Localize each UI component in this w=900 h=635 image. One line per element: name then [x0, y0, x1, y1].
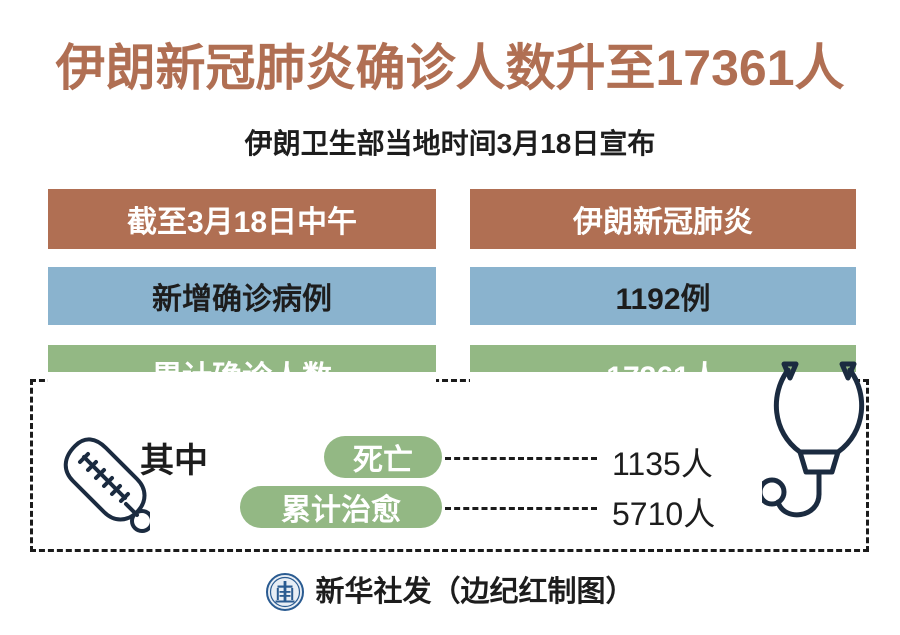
xinhua-logo: [265, 572, 305, 612]
pill-recovered: 累计治愈: [240, 486, 442, 528]
table-row-header-label: 截至3月18日中午: [48, 189, 436, 249]
page-title: 伊朗新冠肺炎确诊人数升至17361人: [0, 38, 900, 98]
connector-recovered: [445, 507, 597, 510]
pill-deaths: 死亡: [324, 436, 442, 478]
footer: 新华社发（边纪红制图）: [0, 572, 900, 612]
value-recovered: 5710人: [612, 489, 715, 535]
table-row-header-value: 伊朗新冠肺炎: [470, 189, 856, 249]
stethoscope-icon: [762, 352, 874, 534]
table-row-new-cases-value: 1192例: [470, 267, 856, 325]
infographic-canvas: 伊朗新冠肺炎确诊人数升至17361人 伊朗卫生部当地时间3月18日宣布 截至3月…: [0, 0, 900, 635]
thermometer-icon: [58, 424, 150, 536]
footer-credit: 新华社发（边纪红制图）: [315, 572, 634, 612]
connector-deaths: [445, 457, 597, 460]
notch-left: [48, 372, 436, 404]
table-row-new-cases-label: 新增确诊病例: [48, 267, 436, 325]
value-deaths: 1135人: [612, 439, 713, 485]
page-subtitle: 伊朗卫生部当地时间3月18日宣布: [0, 126, 900, 162]
breakdown-prefix-label: 其中: [140, 433, 208, 482]
